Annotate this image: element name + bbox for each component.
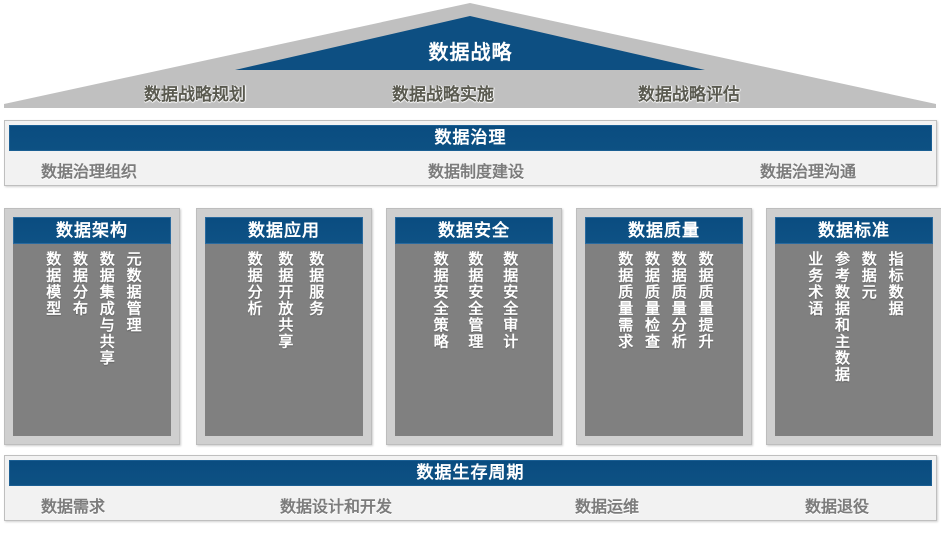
governance-sub-list: 数据治理组织 数据制度建设 数据治理沟通 [5, 151, 936, 185]
pillar-item: 数据分析 [245, 251, 262, 317]
pillar-item: 指标数据 [886, 251, 903, 317]
lifecycle-band: 数据生存周期 数据需求 数据设计和开发 数据运维 数据退役 [4, 455, 937, 521]
pillar-item-list: 数据安全策略 数据安全管理 数据安全审计 [395, 244, 553, 432]
lifecycle-sub-item-2: 数据运维 [575, 493, 639, 517]
roof-title: 数据战略 [0, 36, 941, 65]
pillar-item: 数据分布 [70, 251, 87, 317]
pillar-item: 数据模型 [43, 251, 60, 317]
pillar-item: 数据元 [859, 251, 876, 301]
lifecycle-sub-item-0: 数据需求 [41, 493, 105, 517]
pillar-item: 数据集成与共享 [97, 251, 114, 367]
governance-sub-item-1: 数据制度建设 [428, 158, 524, 182]
pillar-item-list: 数据分析 数据开放共享 数据服务 [205, 244, 363, 432]
pillar-item-list: 数据质量需求 数据质量检查 数据质量分析 数据质量提升 [585, 244, 743, 432]
governance-sub-item-2: 数据治理沟通 [760, 158, 856, 182]
lifecycle-sub-list: 数据需求 数据设计和开发 数据运维 数据退役 [5, 486, 936, 520]
pillar-title: 数据质量 [585, 217, 743, 244]
pillar-item: 数据安全策略 [431, 251, 448, 350]
pillar-title: 数据标准 [775, 217, 933, 244]
lifecycle-title: 数据生存周期 [9, 460, 932, 486]
pillar-inner: 数据标准 业务术语 参考数据和主数据 数据元 指标数据 [775, 217, 933, 436]
roof-sub-item-1: 数据战略实施 [392, 80, 494, 105]
pillar-title: 数据应用 [205, 217, 363, 244]
pillar-item: 数据安全审计 [500, 251, 517, 350]
pillar-item: 数据服务 [306, 251, 323, 317]
pillar-data-application: 数据应用 数据分析 数据开放共享 数据服务 [196, 208, 372, 445]
governance-band: 数据治理 数据治理组织 数据制度建设 数据治理沟通 [4, 120, 937, 186]
lifecycle-sub-item-3: 数据退役 [805, 493, 869, 517]
pillar-inner: 数据安全 数据安全策略 数据安全管理 数据安全审计 [395, 217, 553, 436]
governance-sub-item-0: 数据治理组织 [41, 158, 137, 182]
pillar-title: 数据架构 [13, 217, 171, 244]
pillar-inner: 数据应用 数据分析 数据开放共享 数据服务 [205, 217, 363, 436]
pillar-item-list: 业务术语 参考数据和主数据 数据元 指标数据 [775, 244, 933, 432]
pillar-data-security: 数据安全 数据安全策略 数据安全管理 数据安全审计 [386, 208, 562, 445]
pillar-title: 数据安全 [395, 217, 553, 244]
pillar-item: 数据质量提升 [696, 251, 713, 350]
pillar-item: 数据质量分析 [669, 251, 686, 350]
roof-sub-item-0: 数据战略规划 [144, 80, 246, 105]
pillar-item: 数据质量需求 [615, 251, 632, 350]
pillar-data-standard: 数据标准 业务术语 参考数据和主数据 数据元 指标数据 [766, 208, 941, 445]
roof-sub-list: 数据战略规划 数据战略实施 数据战略评估 [0, 80, 941, 106]
pillar-inner: 数据质量 数据质量需求 数据质量检查 数据质量分析 数据质量提升 [585, 217, 743, 436]
roof-sub-item-2: 数据战略评估 [638, 80, 740, 105]
roof-section: 数据战略 数据战略规划 数据战略实施 数据战略评估 [0, 0, 941, 110]
pillar-inner: 数据架构 数据模型 数据分布 数据集成与共享 元数据管理 [13, 217, 171, 436]
pillar-data-quality: 数据质量 数据质量需求 数据质量检查 数据质量分析 数据质量提升 [576, 208, 752, 445]
pillar-item: 数据安全管理 [466, 251, 483, 350]
governance-title: 数据治理 [9, 125, 932, 151]
pillar-data-architecture: 数据架构 数据模型 数据分布 数据集成与共享 元数据管理 [4, 208, 180, 445]
pillar-item: 业务术语 [805, 251, 822, 317]
pillar-group: 数据架构 数据模型 数据分布 数据集成与共享 元数据管理 数据应用 数据分析 数… [4, 208, 937, 445]
pillar-item: 数据质量检查 [642, 251, 659, 350]
pillar-item: 元数据管理 [124, 251, 141, 334]
pillar-item-list: 数据模型 数据分布 数据集成与共享 元数据管理 [13, 244, 171, 432]
pillar-item: 参考数据和主数据 [832, 251, 849, 383]
pillar-item: 数据开放共享 [276, 251, 293, 350]
lifecycle-sub-item-1: 数据设计和开发 [280, 493, 392, 517]
